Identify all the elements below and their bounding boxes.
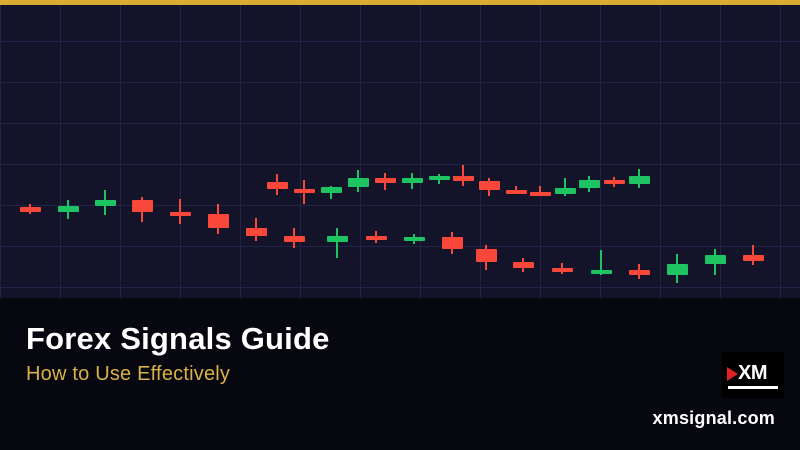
candlestick-body <box>513 262 534 268</box>
candlestick-body <box>366 236 387 240</box>
candlestick-bullish <box>429 174 450 184</box>
candlestick-bullish <box>327 228 348 258</box>
candlestick-body <box>404 237 425 241</box>
candlestick-body <box>591 270 612 274</box>
candlestick-bullish <box>321 186 342 199</box>
candlestick-bullish <box>404 234 425 244</box>
candlestick-bullish <box>95 190 116 215</box>
candlestick-body <box>267 182 288 189</box>
candlestick-series-group <box>0 0 800 298</box>
candlestick-bearish <box>366 231 387 243</box>
candlestick-body <box>506 190 527 194</box>
xm-logo: XM <box>722 352 784 398</box>
candlestick-body <box>20 207 41 212</box>
candlestick-body <box>294 189 315 193</box>
candlestick-bearish <box>506 186 527 194</box>
page-subtitle: How to Use Effectively <box>26 363 230 386</box>
candlestick-bullish <box>58 200 79 219</box>
candlestick-chart-panel <box>0 0 800 298</box>
candlestick-bearish <box>442 232 463 254</box>
candlestick-body <box>552 268 573 272</box>
candlestick-body <box>348 178 369 187</box>
candlestick-body <box>530 192 551 196</box>
candlestick-body <box>629 176 650 184</box>
candlestick-body <box>579 180 600 188</box>
candlestick-body <box>555 188 576 194</box>
candlestick-body <box>629 270 650 275</box>
candlestick-body <box>705 255 726 264</box>
candlestick-bearish <box>375 173 396 190</box>
candlestick-body <box>375 178 396 183</box>
candlestick-bearish <box>629 264 650 279</box>
candlestick-bearish <box>132 197 153 222</box>
candlestick-wick <box>336 228 338 258</box>
candlestick-bullish <box>579 176 600 192</box>
candlestick-bearish <box>743 245 764 265</box>
candlestick-bullish <box>591 250 612 275</box>
candlestick-body <box>170 212 191 216</box>
candlestick-bearish <box>284 228 305 248</box>
candlestick-bullish <box>629 169 650 188</box>
candlestick-bearish <box>170 199 191 224</box>
page-title: Forex Signals Guide <box>26 321 330 357</box>
candlestick-body <box>321 187 342 193</box>
candlestick-body <box>442 237 463 249</box>
candlestick-bearish <box>294 180 315 204</box>
candlestick-bullish <box>348 170 369 192</box>
xm-logo-inner: XM <box>722 352 784 398</box>
candlestick-bearish <box>479 178 500 196</box>
candlestick-bearish <box>604 177 625 187</box>
candlestick-bearish <box>267 174 288 195</box>
candlestick-body <box>246 228 267 236</box>
candlestick-bullish <box>555 178 576 196</box>
candlestick-bearish <box>552 263 573 274</box>
candlestick-body <box>58 206 79 212</box>
candlestick-body <box>95 200 116 206</box>
xm-arrow-icon <box>727 367 738 381</box>
candlestick-body <box>667 264 688 275</box>
candlestick-bearish <box>476 245 497 270</box>
candlestick-bearish <box>20 204 41 214</box>
xm-logo-underline <box>728 386 778 389</box>
candlestick-body <box>429 176 450 180</box>
candlestick-bullish <box>402 173 423 189</box>
candlestick-body <box>453 176 474 181</box>
candlestick-bearish <box>530 186 551 196</box>
candlestick-body <box>327 236 348 242</box>
forex-signals-banner: Forex Signals Guide How to Use Effective… <box>0 0 800 450</box>
candlestick-body <box>743 255 764 261</box>
candlestick-body <box>479 181 500 190</box>
candlestick-bearish <box>453 165 474 186</box>
xm-logo-text: XM <box>738 363 767 383</box>
top-accent-rule <box>0 0 800 5</box>
candlestick-body <box>476 249 497 262</box>
candlestick-bearish <box>513 258 534 272</box>
website-domain-label: xmsignal.com <box>653 408 775 429</box>
candlestick-bearish <box>208 204 229 234</box>
candlestick-body <box>208 214 229 228</box>
candlestick-bullish <box>705 249 726 275</box>
candlestick-bullish <box>667 254 688 283</box>
candlestick-bearish <box>246 218 267 241</box>
title-panel: Forex Signals Guide How to Use Effective… <box>0 298 800 450</box>
candlestick-body <box>604 180 625 184</box>
candlestick-body <box>132 200 153 212</box>
candlestick-body <box>402 178 423 183</box>
candlestick-body <box>284 236 305 242</box>
